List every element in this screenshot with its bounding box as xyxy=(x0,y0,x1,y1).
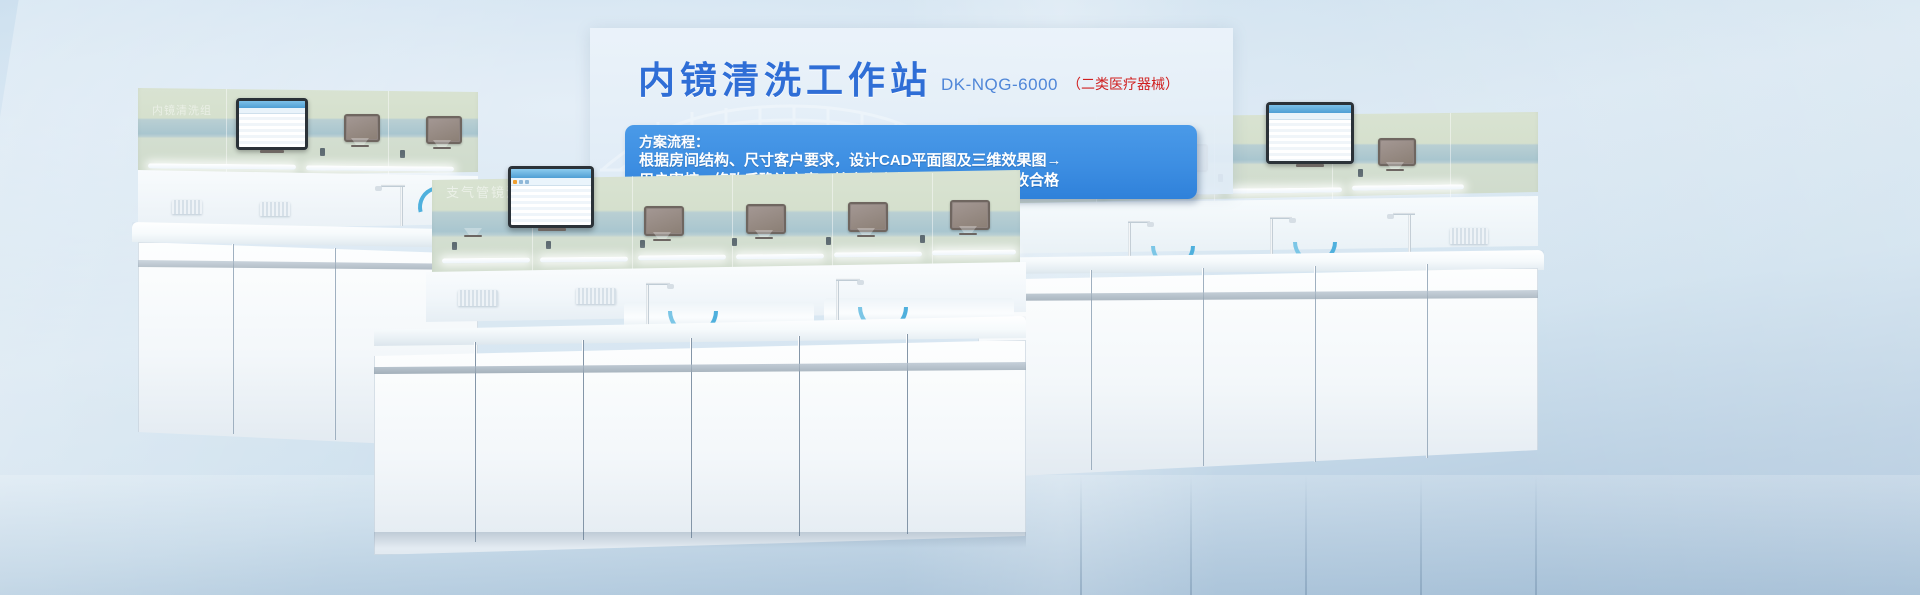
workstation-left-label: 内镜清洗组 xyxy=(152,102,212,118)
pc-app-toolbar xyxy=(1269,113,1351,120)
sensor-icon xyxy=(640,240,645,248)
sensor-icon xyxy=(826,237,831,245)
cabinet-door-edge xyxy=(232,244,234,434)
faucet-arm xyxy=(381,184,405,187)
page-title: 内镜清洗工作站 xyxy=(638,62,932,99)
faucet-head xyxy=(375,186,382,191)
product-model: DK-NQG-6000 xyxy=(941,75,1058,99)
monitor-base xyxy=(857,235,875,237)
title-row: 内镜清洗工作站 DK-NQG-6000 （二类医疗器械） xyxy=(638,62,1179,99)
counter-splash-right xyxy=(978,196,1538,254)
instrument-tray xyxy=(458,290,498,306)
callout-line-heading: 方案流程： xyxy=(639,133,1183,151)
under-cabinet-light xyxy=(442,258,530,264)
panel-seam xyxy=(388,91,389,175)
wall-monitor xyxy=(344,114,380,142)
pc-screen xyxy=(1269,105,1351,161)
wall-monitor xyxy=(950,200,990,230)
workstation-center-pc-monitor xyxy=(508,166,594,228)
monitor-base xyxy=(653,239,671,241)
pc-monitor-base xyxy=(538,228,566,231)
sensor-icon xyxy=(546,241,551,249)
wall-monitor xyxy=(426,116,462,144)
wall-monitor xyxy=(848,202,888,232)
monitor-base xyxy=(1386,169,1404,171)
pc-app-toolbar xyxy=(511,178,591,186)
faucet-column xyxy=(400,184,403,226)
title-card: 内镜清洗工作站 DK-NQG-6000 （二类医疗器械） 方案流程： 根据房间结… xyxy=(590,28,1233,194)
under-cabinet-light xyxy=(736,254,824,260)
monitor-base xyxy=(959,233,977,235)
certification-badge: （二类医疗器械） xyxy=(1067,74,1179,99)
sensor-icon xyxy=(320,148,325,156)
under-cabinet-light xyxy=(834,252,922,258)
faucet-head xyxy=(1387,214,1394,219)
pc-monitor-base xyxy=(1296,164,1324,167)
sensor-icon xyxy=(732,238,737,246)
monitor-base xyxy=(755,237,773,239)
floor-seam xyxy=(1190,475,1192,595)
pc-monitor-base xyxy=(260,150,284,153)
faucet-column xyxy=(1128,220,1131,262)
pc-app-titlebar xyxy=(1269,105,1351,113)
faucet-column xyxy=(646,282,649,326)
workstation-left-pc-monitor xyxy=(236,98,308,150)
under-cabinet-light xyxy=(932,250,1016,256)
under-cabinet-light xyxy=(540,257,628,263)
workstation-center: 支气管镜清洗组 xyxy=(432,232,1020,562)
faucet-head xyxy=(857,280,864,285)
callout-line-1: 根据房间结构、尺寸客户要求，设计CAD平面图及三维效果图→ xyxy=(639,151,1183,171)
cabinet-door-edge xyxy=(334,248,336,440)
panel-seam xyxy=(226,89,227,175)
faucet-arm xyxy=(1393,212,1415,215)
instrument-tray xyxy=(172,200,202,214)
sensor-icon xyxy=(400,150,405,158)
faucet-column xyxy=(1270,216,1273,258)
monitor-base xyxy=(351,145,369,147)
pc-app-titlebar xyxy=(239,101,305,108)
toolbar-icon xyxy=(513,180,517,184)
floor-seam xyxy=(1305,475,1307,595)
faucet-column xyxy=(836,278,839,322)
sensor-icon xyxy=(920,235,925,243)
toolbar-icon xyxy=(519,180,523,184)
pc-app-titlebar xyxy=(511,169,591,178)
floor-seam xyxy=(1535,475,1537,595)
sensor-icon xyxy=(1358,169,1363,177)
wall-monitor xyxy=(1378,138,1416,166)
floor-seam xyxy=(1080,475,1082,595)
faucet-head xyxy=(667,284,674,289)
faucet-head xyxy=(1289,218,1296,223)
workstation-right-pc-monitor xyxy=(1266,102,1354,164)
monitor-base xyxy=(433,147,451,149)
toolbar-icon xyxy=(525,180,529,184)
wall-monitor xyxy=(746,204,786,234)
pc-screen xyxy=(511,169,591,225)
instrument-tray xyxy=(260,202,290,216)
cabinet-shadow-center xyxy=(374,532,1026,548)
faucet-head xyxy=(1147,222,1154,227)
wall-monitor xyxy=(644,206,684,236)
product-banner: 内镜清洗组 xyxy=(0,0,1920,595)
sensor-icon xyxy=(452,242,457,250)
instrument-tray xyxy=(576,288,616,304)
pc-screen xyxy=(239,101,305,147)
instrument-tray xyxy=(1450,228,1488,244)
monitor-base xyxy=(464,235,482,237)
pc-app-table xyxy=(511,186,591,224)
pc-app-table xyxy=(1269,120,1351,161)
faucet-column xyxy=(1408,212,1411,252)
pc-app-table xyxy=(239,114,305,147)
under-cabinet-light xyxy=(638,255,726,261)
floor-seam xyxy=(1420,475,1422,595)
